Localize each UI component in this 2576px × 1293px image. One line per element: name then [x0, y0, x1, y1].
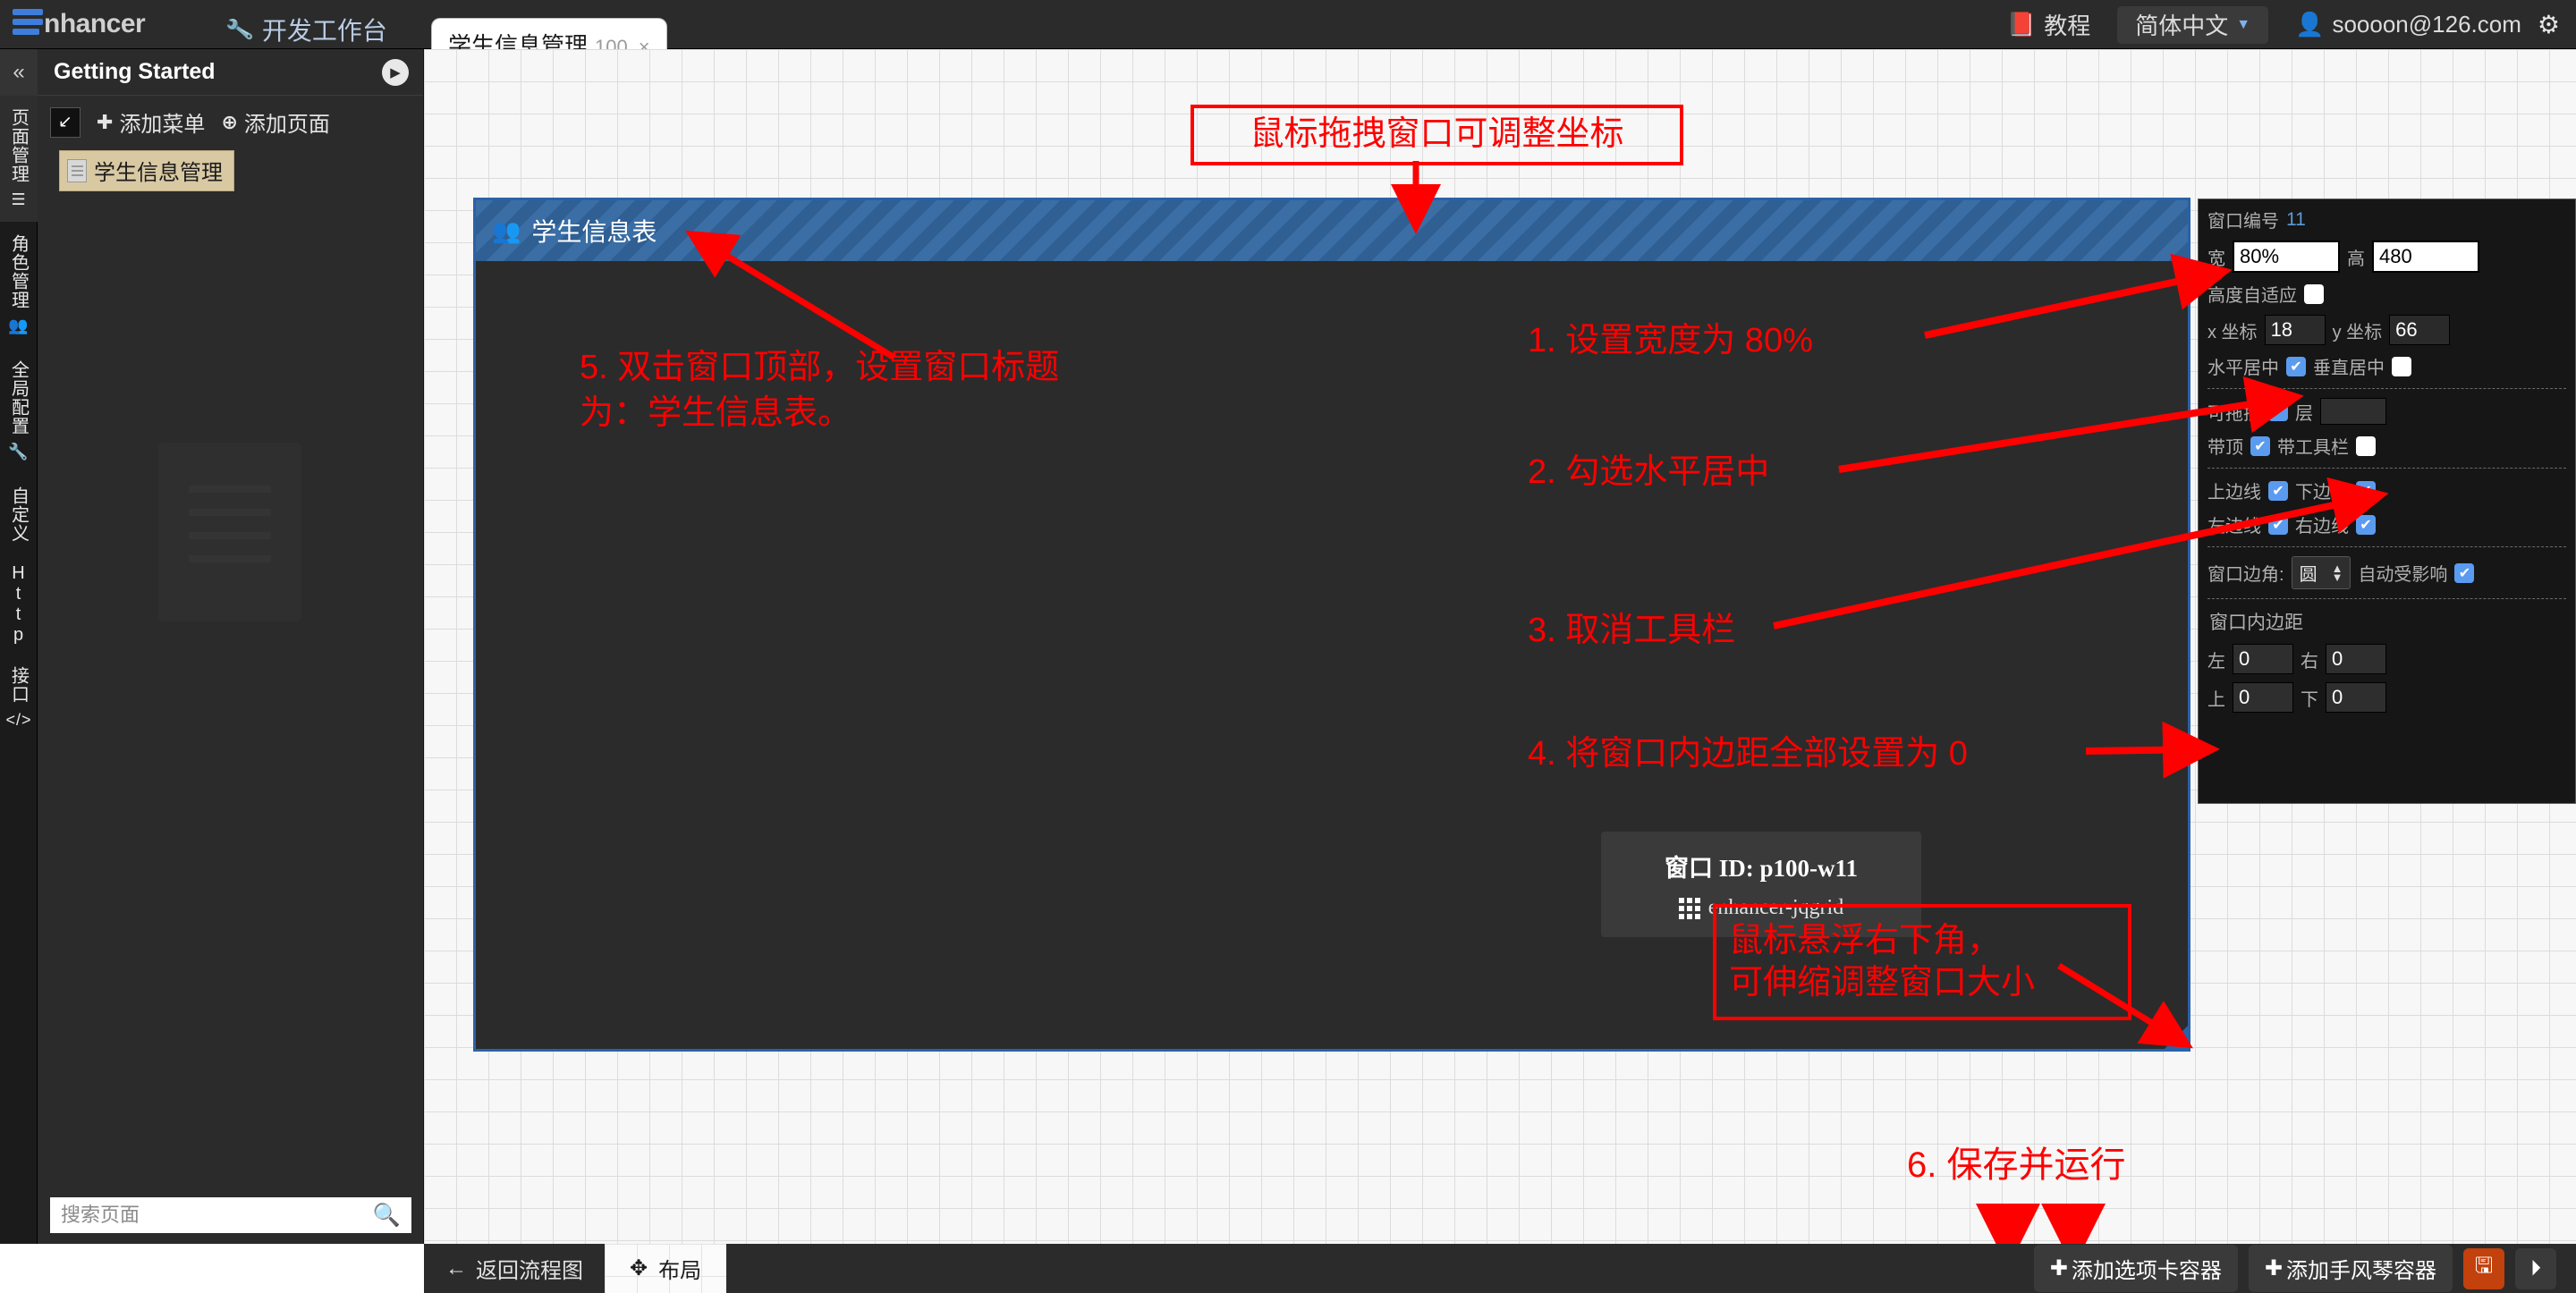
code-icon: </>	[5, 711, 31, 730]
padding-section-title: 窗口内边距	[2209, 608, 2566, 635]
tab-layout[interactable]: ✥ 布局	[605, 1244, 726, 1293]
prop-window-id: 窗口编号 11	[2207, 207, 2566, 232]
bottom-right-actions: ✚ 添加选项卡容器 ✚ 添加手风琴容器 🖫 ⏵	[2034, 1245, 2576, 1292]
floppy-disk-icon: 🖫	[2475, 1250, 2493, 1287]
layer-input[interactable]	[2320, 398, 2386, 425]
prop-top-toolbar: 带顶 ✔ 带工具栏	[2207, 433, 2566, 459]
arrow-left-icon: ←	[445, 1256, 467, 1281]
add-accordion-container-label: 添加手风琴容器	[2286, 1253, 2436, 1284]
add-menu-button[interactable]: ✚ 添加菜单	[97, 106, 205, 138]
book-icon: 📕	[2007, 11, 2036, 38]
user-account[interactable]: 👤 soooon@126.com	[2279, 0, 2538, 49]
annotation-resize-text: 鼠标悬浮右下角， 可伸缩调整窗口大小	[1729, 920, 2035, 1005]
app-root: nhancer 🔧 开发工作台 学生信息管理 100 × 📕 教程 简体中文 ▼	[0, 0, 2576, 1293]
with-top-label: 带顶	[2207, 433, 2243, 459]
sidebar-item-http-api-label: 自定义 Http 接口	[6, 486, 32, 704]
app-logo[interactable]: nhancer	[13, 9, 145, 38]
sidebar-item-roles-label: 角色管理	[6, 234, 32, 309]
sidebar-item-pages-label: 页面管理	[6, 108, 32, 183]
add-page-label: 添加页面	[244, 106, 330, 138]
corner-select[interactable]: 圆 ▲▼	[2292, 556, 2351, 589]
resize-handle[interactable]	[2165, 1026, 2188, 1049]
hcenter-label: 水平居中	[2207, 353, 2279, 379]
window-id-label: 窗口编号	[2207, 207, 2279, 232]
language-label: 简体中文	[2135, 8, 2228, 41]
play-icon: ▶	[390, 64, 401, 80]
y-label: y 坐标	[2333, 317, 2383, 343]
gear-icon: ⚙	[2538, 11, 2560, 38]
divider	[2207, 598, 2566, 599]
sidebar-item-http-api[interactable]: 自定义 Http 接口 </>	[0, 474, 38, 742]
tab-layout-label: 布局	[658, 1253, 701, 1284]
collapse-all-button[interactable]: ↙	[50, 107, 80, 138]
annotation-step4: 4. 将窗口内边距全部设置为 0	[1528, 733, 1968, 776]
layer-label: 层	[2295, 399, 2313, 425]
annotation-step5: 5. 双击窗口顶部，设置窗口标题 为：学生信息表。	[580, 345, 1059, 437]
y-input[interactable]	[2389, 315, 2450, 345]
top-right-group: 📕 教程 简体中文 ▼ 👤 soooon@126.com ⚙	[1991, 0, 2576, 49]
divider	[2207, 468, 2566, 469]
auto-height-checkbox[interactable]	[2304, 284, 2324, 304]
divider	[2207, 388, 2566, 389]
chevron-down-icon: ▼	[2236, 17, 2250, 33]
collapse-arrows-icon: ↙	[58, 112, 72, 132]
user-email: soooon@126.com	[2332, 11, 2521, 38]
border-top-label: 上边线	[2207, 477, 2261, 503]
wrench-icon: 🔧	[8, 443, 29, 461]
sidebar-item-global-config-label: 全局配置	[6, 360, 32, 435]
plus-icon: ✚	[2050, 1255, 2068, 1281]
pad-left-input[interactable]	[2233, 644, 2293, 674]
spinner-icon: ▲▼	[2332, 564, 2343, 582]
save-button[interactable]: 🖫	[2463, 1248, 2504, 1289]
border-right-checkbox[interactable]: ✔	[2356, 515, 2376, 535]
vcenter-label: 垂直居中	[2313, 353, 2385, 379]
users-icon: 👥	[8, 317, 29, 335]
tree-item-student-info[interactable]: 学生信息管理	[59, 150, 234, 191]
prop-borders-tb: 上边线 ✔ 下边线 ✔	[2207, 477, 2566, 503]
auto-height-label: 高度自适应	[2207, 281, 2297, 307]
page-tree: 学生信息管理	[38, 145, 423, 191]
window-id-value: 11	[2286, 209, 2306, 231]
corner-value: 圆	[2300, 560, 2318, 586]
corner-label: 窗口边角:	[2207, 560, 2284, 586]
annotation-drag-box: 鼠标拖拽窗口可调整坐标	[1191, 105, 1683, 165]
x-input[interactable]	[2265, 315, 2326, 345]
border-left-checkbox[interactable]: ✔	[2268, 515, 2288, 535]
run-button[interactable]: ⏵	[2515, 1248, 2556, 1289]
chevron-left-icon: «	[13, 60, 24, 85]
border-bottom-checkbox[interactable]: ✔	[2356, 481, 2376, 501]
users-icon: 👥	[492, 217, 521, 245]
plus-icon: ✚	[2265, 1255, 2283, 1281]
auto-affect-checkbox[interactable]: ✔	[2454, 563, 2474, 583]
left-panel-header: Getting Started ▶	[38, 49, 423, 96]
left-rail: « 页面管理 ☰ 角色管理 👥 全局配置 🔧 自定义 Http 接口 </>	[0, 49, 38, 1244]
prop-coords: x 坐标 y 坐标	[2207, 315, 2566, 345]
prop-auto-height: 高度自适应	[2207, 281, 2566, 307]
height-label: 高	[2347, 244, 2365, 270]
border-top-checkbox[interactable]: ✔	[2268, 481, 2288, 501]
border-right-label: 右边线	[2295, 511, 2349, 537]
pad-left-label: 左	[2207, 646, 2225, 672]
back-to-flow-label: 返回流程图	[476, 1253, 583, 1284]
plus-circle-icon: ⊕	[221, 111, 237, 134]
prop-padding-tb: 上 下	[2207, 682, 2566, 713]
width-label: 宽	[2207, 244, 2225, 270]
top-bar: nhancer 🔧 开发工作台 学生信息管理 100 × 📕 教程 简体中文 ▼	[0, 0, 2576, 49]
draggable-label: 可拖拽	[2207, 399, 2261, 425]
hamburger-logo-icon	[13, 9, 43, 38]
sidebar-item-global-config[interactable]: 全局配置 🔧	[0, 348, 38, 474]
width-input[interactable]	[2233, 241, 2340, 273]
prop-draggable: 可拖拽 ✔ 层	[2207, 398, 2566, 425]
list-icon: ☰	[11, 190, 26, 209]
prop-center: 水平居中 ✔ 垂直居中	[2207, 353, 2566, 379]
left-panel-actions: ↙ ✚ 添加菜单 ⊕ 添加页面	[38, 96, 423, 145]
prop-corner: 窗口边角: 圆 ▲▼ 自动受影响 ✔	[2207, 556, 2566, 589]
pad-right-input[interactable]	[2326, 644, 2386, 674]
watermark-placeholder	[158, 443, 301, 621]
annotation-step2: 2. 勾选水平居中	[1528, 452, 1769, 494]
workbench-label: 开发工作台	[262, 12, 387, 47]
annotation-step3: 3. 取消工具栏	[1528, 610, 1735, 653]
logo-text: nhancer	[44, 11, 145, 38]
pad-bottom-input[interactable]	[2326, 682, 2386, 713]
vcenter-checkbox[interactable]	[2392, 357, 2411, 376]
grid-icon	[1679, 898, 1700, 919]
sidebar-item-pages[interactable]: 页面管理 ☰	[0, 96, 38, 222]
prop-size: 宽 高	[2207, 241, 2566, 273]
annotation-step1: 1. 设置宽度为 80%	[1528, 320, 1813, 363]
height-input[interactable]	[2372, 241, 2479, 273]
prop-borders-lr: 左边线 ✔ 右边线 ✔	[2207, 511, 2566, 537]
wrench-icon: 🔧	[225, 14, 255, 45]
annotation-step6: 6. 保存并运行	[1907, 1143, 2125, 1187]
window-properties-panel: 窗口编号 11 宽 高 高度自适应 x 坐标 y 坐标 水平居中 ✔ 垂直居中	[2198, 199, 2576, 804]
with-toolbar-checkbox[interactable]	[2356, 436, 2376, 456]
x-label: x 坐标	[2207, 317, 2258, 343]
window-titlebar[interactable]: 👥 学生信息表	[476, 200, 2188, 261]
bottom-bar: ← 返回流程图 ✥ 布局 ✚ 添加选项卡容器 ✚ 添加手风琴容器 🖫 ⏵	[424, 1244, 2576, 1293]
border-left-label: 左边线	[2207, 511, 2261, 537]
rail-collapse-button[interactable]: «	[0, 49, 38, 96]
auto-affect-label: 自动受影响	[2358, 560, 2447, 586]
annotation-resize-box: 鼠标悬浮右下角， 可伸缩调整窗口大小	[1713, 904, 2131, 1020]
border-bottom-label: 下边线	[2295, 477, 2349, 503]
search-box[interactable]: 🔍	[50, 1197, 411, 1233]
sidebar-item-roles[interactable]: 角色管理 👥	[0, 222, 38, 348]
pad-bottom-label: 下	[2301, 685, 2318, 711]
play-icon: ⏵	[2530, 1256, 2541, 1281]
add-tab-container-button[interactable]: ✚ 添加选项卡容器	[2034, 1245, 2238, 1292]
tutorial-label: 教程	[2044, 8, 2090, 41]
run-button[interactable]: ▶	[382, 59, 409, 86]
hcenter-checkbox[interactable]: ✔	[2286, 357, 2306, 376]
settings-button[interactable]: ⚙	[2538, 10, 2576, 39]
add-menu-label: 添加菜单	[119, 106, 205, 138]
page-title: Getting Started	[54, 59, 216, 85]
language-selector[interactable]: 简体中文 ▼	[2117, 6, 2268, 44]
pad-top-label: 上	[2207, 685, 2225, 711]
pad-right-label: 右	[2301, 646, 2318, 672]
document-icon	[67, 159, 87, 182]
user-icon: 👤	[2295, 11, 2324, 38]
annotation-drag-text: 鼠标拖拽窗口可调整坐标	[1250, 114, 1623, 156]
add-accordion-container-button[interactable]: ✚ 添加手风琴容器	[2249, 1245, 2453, 1292]
add-tab-container-label: 添加选项卡容器	[2072, 1253, 2222, 1284]
left-panel: Getting Started ▶ ↙ ✚ 添加菜单 ⊕ 添加页面 学生信息管理	[38, 49, 424, 1244]
back-to-flow-button[interactable]: ← 返回流程图	[424, 1244, 605, 1293]
with-toolbar-label: 带工具栏	[2277, 433, 2349, 459]
tutorial-link[interactable]: 📕 教程	[1991, 0, 2106, 49]
workbench-link[interactable]: 🔧 开发工作台	[219, 7, 394, 52]
window-title: 学生信息表	[531, 213, 657, 249]
divider	[2207, 546, 2566, 547]
pad-top-input[interactable]	[2233, 682, 2293, 713]
tree-item-label: 学生信息管理	[94, 155, 223, 186]
search-icon[interactable]: 🔍	[373, 1203, 401, 1229]
prop-padding-lr: 左 右	[2207, 644, 2566, 674]
with-top-checkbox[interactable]: ✔	[2250, 436, 2270, 456]
add-page-button[interactable]: ⊕ 添加页面	[221, 106, 329, 138]
move-icon: ✥	[630, 1255, 648, 1281]
search-input[interactable]	[61, 1204, 373, 1227]
widget-id-label: 窗口 ID: p100-w11	[1665, 849, 1858, 883]
plus-icon: ✚	[97, 111, 113, 134]
draggable-checkbox[interactable]: ✔	[2268, 401, 2288, 421]
